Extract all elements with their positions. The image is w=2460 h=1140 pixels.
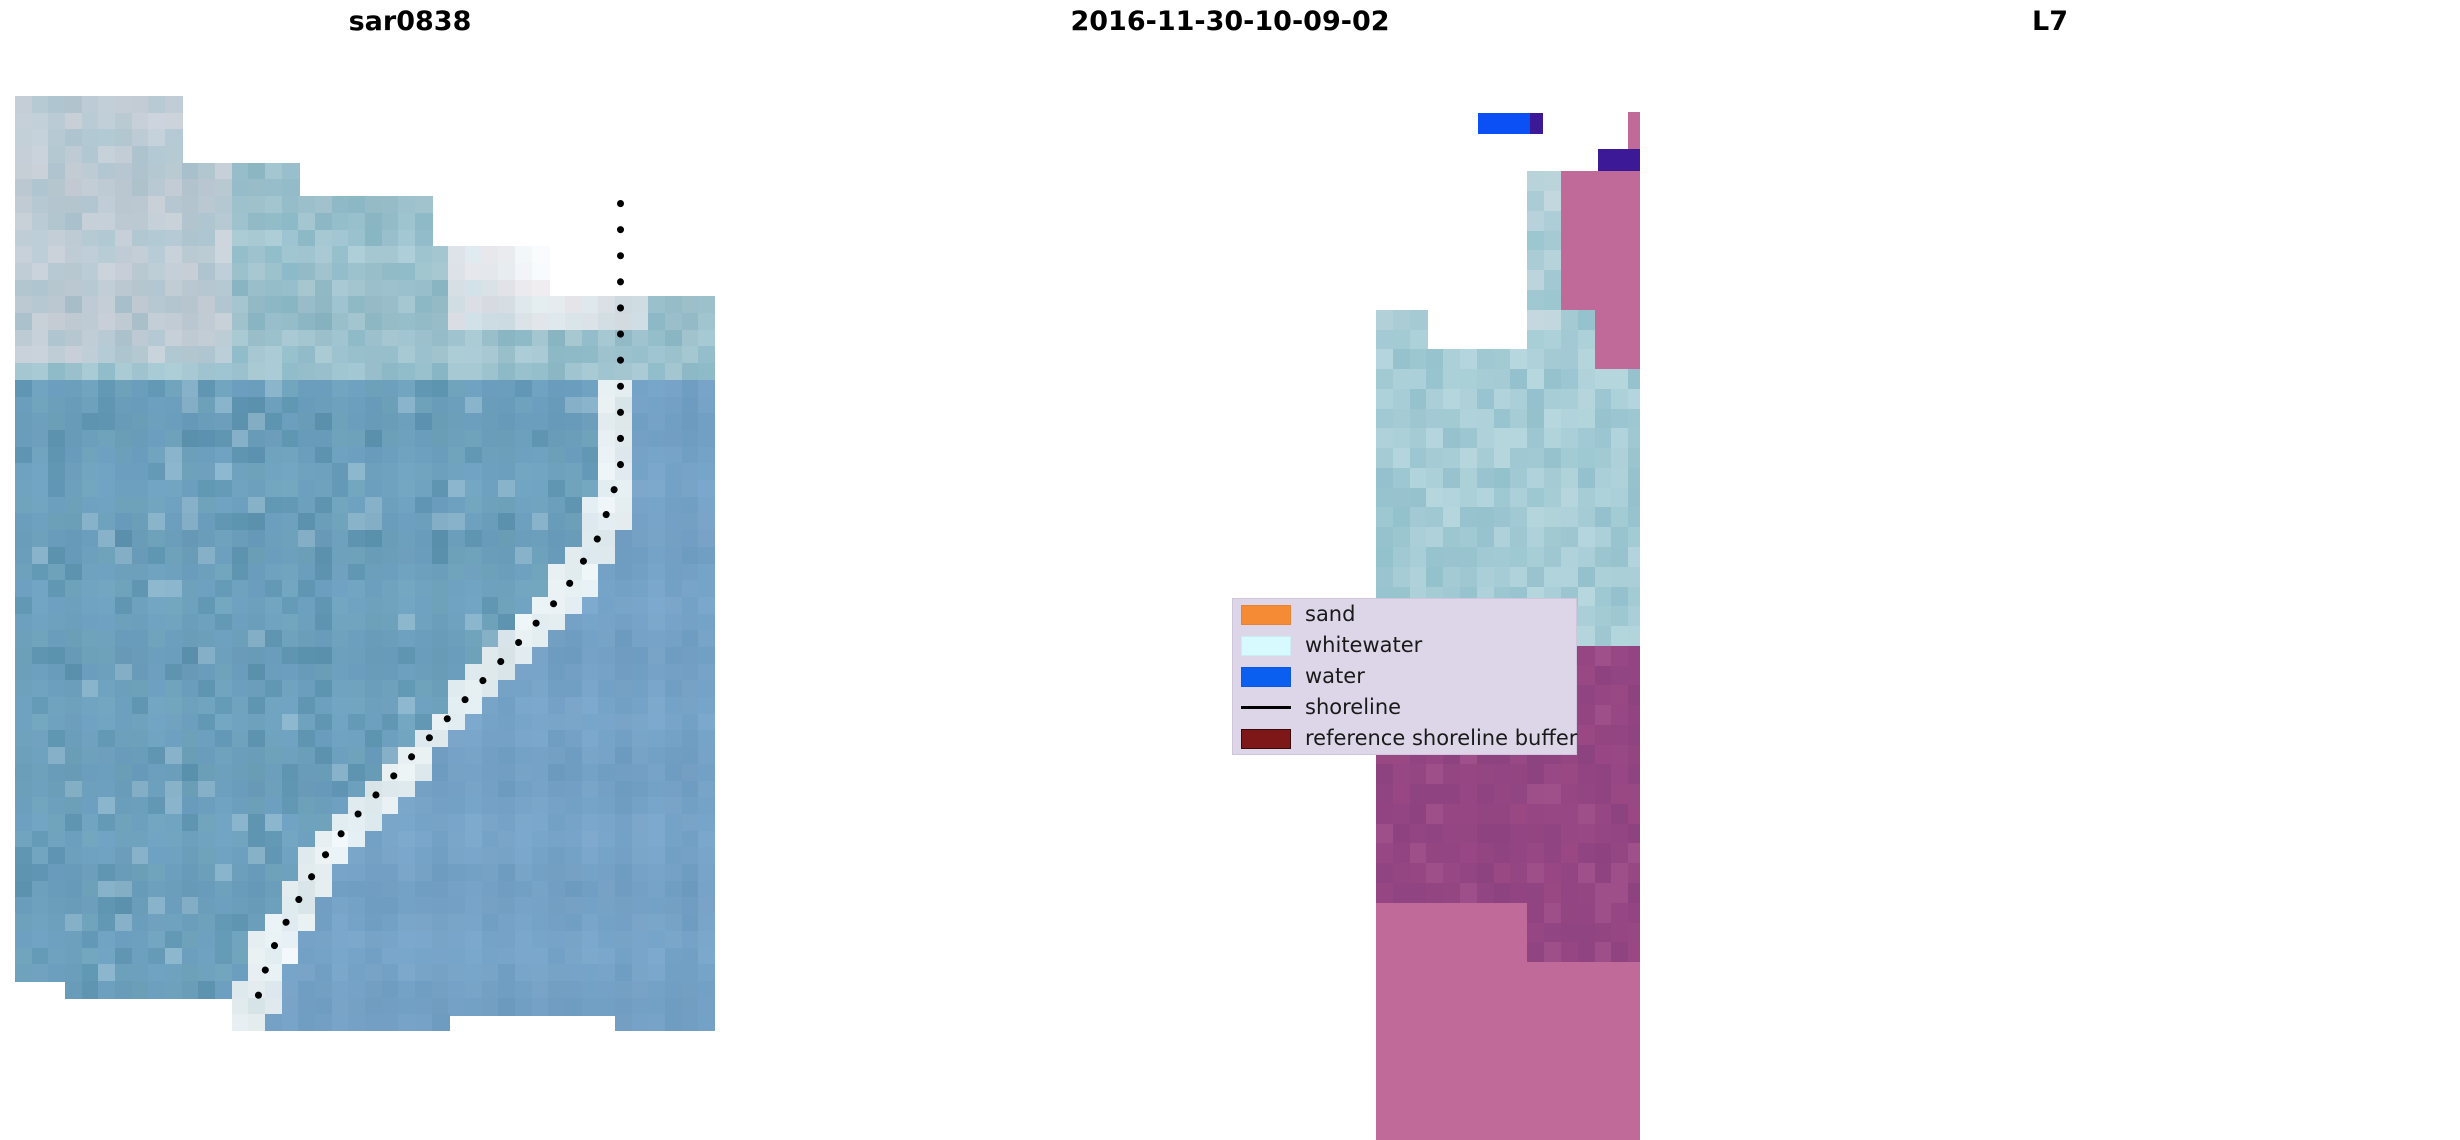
figure-canvas: sar0838 2016-11-30-10-09-02 L7 sandwh	[0, 0, 2460, 1140]
axes-l7	[1640, 0, 2460, 1140]
shoreline-polyline-classified	[1376, 33, 1640, 1140]
legend-item-shoreline[interactable]: shoreline	[1233, 692, 1576, 723]
shoreline-polyline-sar	[15, 96, 715, 1031]
legend-item-sand[interactable]: sand	[1233, 599, 1576, 630]
legend-item-water[interactable]: water	[1233, 661, 1576, 692]
legend-item-reference-shoreline-buffer[interactable]: reference shoreline buffer	[1233, 723, 1576, 754]
panel-l7: L7	[1640, 0, 2460, 1140]
satellite-image-sar	[15, 96, 715, 1031]
legend-swatch-sand-icon	[1241, 604, 1291, 626]
classified-image	[1376, 33, 1640, 1140]
legend-swatch-whitewater-icon	[1241, 635, 1291, 657]
legend-label: water	[1305, 666, 1365, 687]
legend-swatch-reference-shoreline-buffer-icon	[1241, 728, 1291, 750]
axes-sar	[0, 0, 820, 1140]
legend-box: sandwhitewaterwatershorelinereference sh…	[1232, 598, 1577, 755]
legend-label: whitewater	[1305, 635, 1422, 656]
panel-sar0838: sar0838	[0, 0, 820, 1140]
axes-classified	[820, 0, 1640, 1140]
legend-swatch-water-icon	[1241, 666, 1291, 688]
panel-classified: 2016-11-30-10-09-02	[820, 0, 1640, 1140]
legend-label: shoreline	[1305, 697, 1401, 718]
legend-label: sand	[1305, 604, 1355, 625]
legend-item-whitewater[interactable]: whitewater	[1233, 630, 1576, 661]
legend-label: reference shoreline buffer	[1305, 728, 1577, 749]
legend-swatch-shoreline-icon	[1241, 697, 1291, 719]
